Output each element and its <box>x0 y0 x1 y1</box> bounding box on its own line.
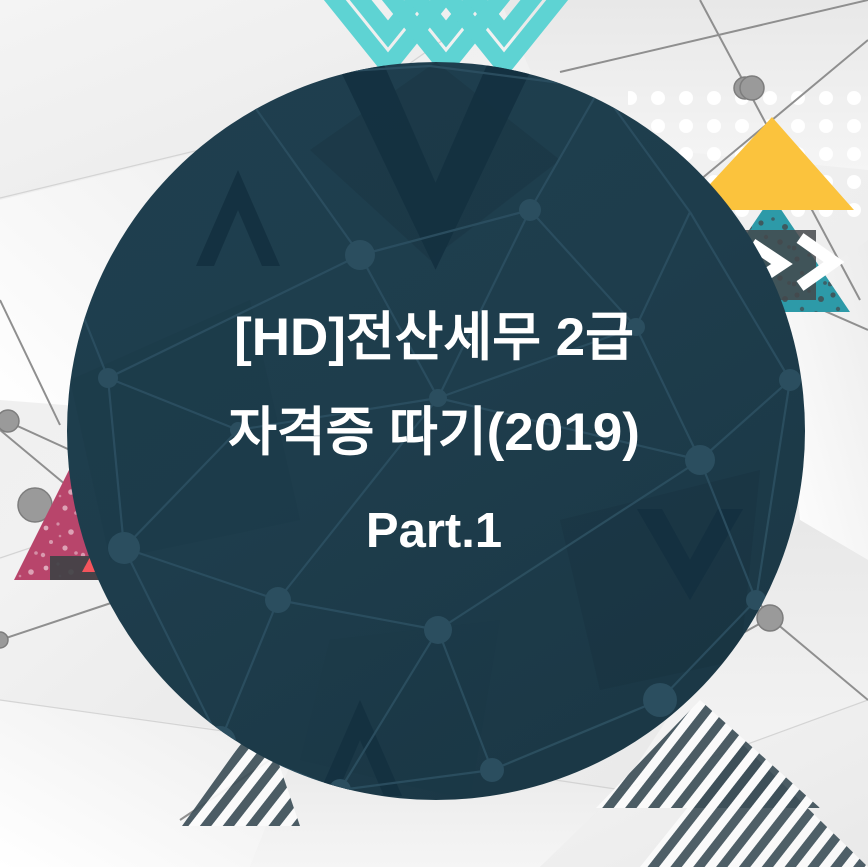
network-node-edge <box>740 76 764 100</box>
video-thumbnail: [HD]전산세무 2급 자격증 따기(2019) Part.1 <box>0 0 868 867</box>
cyan-zigzag-chevrons <box>330 0 562 66</box>
foreground-graphics <box>0 0 868 867</box>
dark-teal-circle <box>60 62 805 801</box>
